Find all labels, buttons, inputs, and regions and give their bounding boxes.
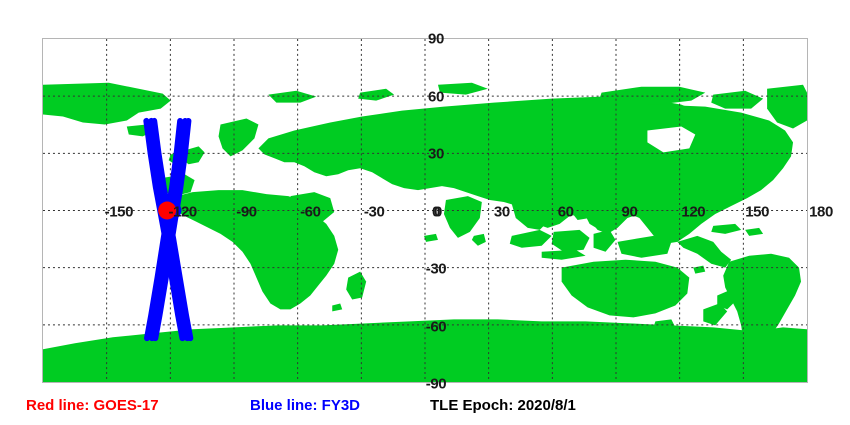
lon-tick-180: 180 [809, 204, 833, 219]
lon-tick--150: -150 [105, 204, 133, 219]
lat-tick-60: 60 [428, 89, 444, 104]
lon-tick-0: 0 [434, 204, 442, 219]
legend-blue-line-fy3d: Blue line: FY3D [250, 396, 360, 416]
lon-tick--90: -90 [236, 204, 256, 219]
world-map-plot-area: 9060300-30-60-90 -300306090120150180-150… [42, 38, 808, 383]
lon-tick--120: -120 [168, 204, 196, 219]
lon-tick-30: 30 [494, 204, 510, 219]
lat-tick-90: 90 [428, 32, 444, 47]
lon-tick-150: 150 [745, 204, 769, 219]
lon-tick-90: 90 [622, 204, 638, 219]
lon-tick-120: 120 [681, 204, 705, 219]
lat-tick--60: -60 [426, 319, 446, 334]
lon-tick--30: -30 [364, 204, 384, 219]
legend-tle-epoch: TLE Epoch: 2020/8/1 [430, 396, 576, 416]
figure-legend: Red line: GOES-17 Blue line: FY3D TLE Ep… [0, 396, 850, 420]
lat-tick--30: -30 [426, 262, 446, 277]
satellite-ground-track-figure: 9060300-30-60-90 -300306090120150180-150… [0, 0, 850, 425]
lat-tick--90: -90 [426, 377, 446, 392]
legend-red-line-goes17: Red line: GOES-17 [26, 396, 159, 416]
lat-tick-30: 30 [428, 147, 444, 162]
lon-tick--60: -60 [300, 204, 320, 219]
lon-tick-60: 60 [558, 204, 574, 219]
